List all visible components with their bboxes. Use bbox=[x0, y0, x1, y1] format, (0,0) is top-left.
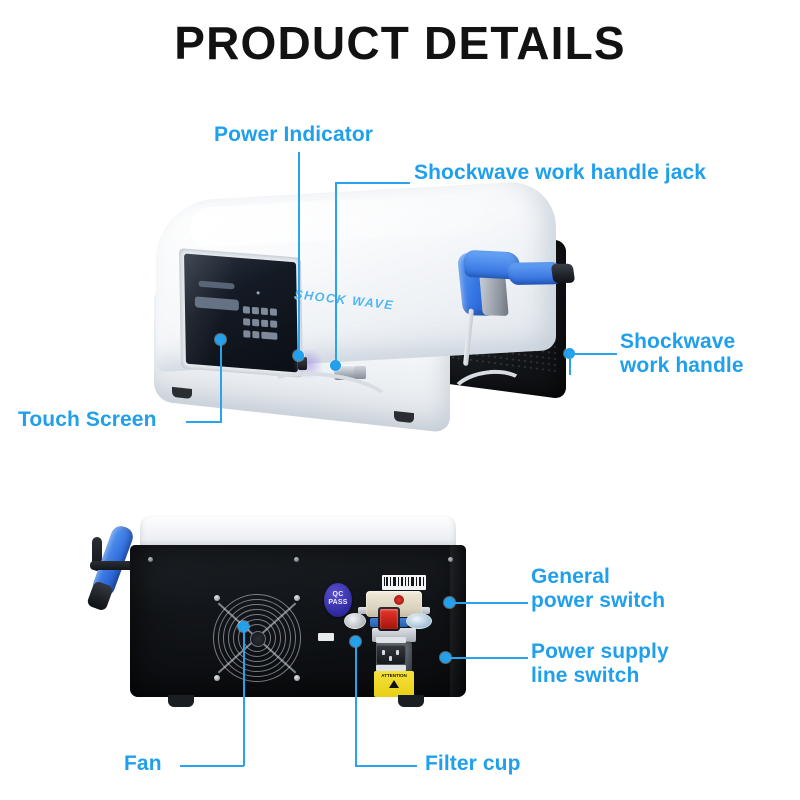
shockwave-handle-assembly bbox=[448, 246, 566, 356]
certification-sticker bbox=[344, 613, 366, 629]
fan-screw bbox=[214, 675, 220, 681]
screen-ui-key bbox=[252, 331, 259, 339]
screen-ui-key bbox=[252, 319, 259, 327]
general-power-switch-leader bbox=[450, 602, 528, 604]
rocker-button bbox=[380, 609, 398, 629]
filter-cup-leader-h bbox=[355, 765, 417, 767]
screen-ui-key bbox=[243, 330, 250, 338]
fan-screw bbox=[294, 675, 300, 681]
handle-cable-lower bbox=[447, 365, 541, 493]
screen-ui-key bbox=[270, 308, 277, 316]
callout-power-supply-line-switch: Power supply line switch bbox=[531, 640, 669, 687]
barcode-label bbox=[382, 575, 426, 590]
handle-jack-leader-v bbox=[335, 182, 337, 362]
power-indicator-leader bbox=[298, 152, 300, 352]
machine-rear-top-cover bbox=[140, 515, 456, 549]
general-power-switch[interactable] bbox=[378, 607, 400, 631]
work-handle-leader-h bbox=[569, 353, 617, 355]
hologram-sticker bbox=[406, 613, 432, 629]
machine-foot bbox=[394, 411, 414, 423]
model-plate bbox=[318, 633, 334, 641]
screen-glass bbox=[184, 254, 298, 373]
panel-screw bbox=[294, 557, 299, 562]
socket-top-label bbox=[376, 637, 406, 643]
touch-screen-leader-h bbox=[186, 421, 222, 423]
power-supply-line-switch-leader bbox=[446, 657, 528, 659]
qc-line-1: QC bbox=[324, 591, 352, 599]
fan-leader-v bbox=[243, 626, 245, 766]
applicator-tip bbox=[86, 580, 114, 611]
callout-shockwave-work-handle-jack: Shockwave work handle jack bbox=[414, 161, 706, 185]
screen-ui-key bbox=[261, 308, 268, 316]
warning-triangle-icon bbox=[389, 680, 399, 688]
port-collar bbox=[354, 366, 366, 379]
qc-line-2: PASS bbox=[324, 599, 352, 607]
filter-cup-leader-v bbox=[355, 641, 357, 766]
machine-foot bbox=[398, 695, 424, 707]
socket-pin bbox=[389, 656, 392, 661]
applicator-cap bbox=[551, 264, 575, 284]
handle-jack-leader-h bbox=[335, 182, 410, 184]
fan-screw bbox=[294, 595, 300, 601]
screen-ui-bar bbox=[199, 281, 235, 290]
machine-foot bbox=[168, 695, 194, 707]
fan-screw bbox=[214, 595, 220, 601]
callout-shockwave-work-handle: Shockwave work handle bbox=[620, 330, 744, 377]
infographic-canvas: PRODUCT DETAILS bbox=[0, 0, 800, 800]
touch-screen-leader-v bbox=[220, 339, 222, 423]
fan-grille bbox=[212, 593, 302, 683]
panel-screw bbox=[448, 557, 453, 562]
callout-power-indicator: Power Indicator bbox=[214, 123, 373, 147]
callout-general-power-switch: General power switch bbox=[531, 565, 665, 612]
attention-warning-label: ATTENTION bbox=[374, 671, 414, 697]
screen-ui-key bbox=[261, 320, 268, 328]
socket-pin bbox=[382, 650, 385, 655]
machine-rear-panel: QC PASS bbox=[130, 545, 466, 697]
callout-filter-cup: Filter cup bbox=[425, 752, 521, 776]
bottom-machine-photo: QC PASS bbox=[88, 515, 508, 730]
handle-barrel bbox=[479, 275, 508, 316]
machine-foot bbox=[172, 387, 192, 399]
screen-ui-key bbox=[270, 320, 277, 328]
attention-text: ATTENTION bbox=[381, 673, 406, 678]
fan-hub bbox=[250, 631, 266, 647]
touch-screen-display[interactable] bbox=[179, 248, 303, 378]
qc-pass-sticker: QC PASS bbox=[324, 583, 352, 617]
fan-leader-h bbox=[180, 765, 244, 767]
panel-screw bbox=[148, 557, 153, 562]
power-supply-line-switch[interactable] bbox=[376, 645, 406, 665]
socket-pin bbox=[396, 650, 399, 655]
work-handle-leader-v bbox=[569, 353, 571, 375]
page-title: PRODUCT DETAILS bbox=[0, 16, 800, 70]
screen-ui-key-wide bbox=[261, 332, 277, 340]
screen-ui-key bbox=[252, 307, 259, 315]
filter-pressure-knob[interactable] bbox=[394, 595, 404, 605]
screen-ui-indicator bbox=[257, 291, 260, 294]
screen-ui-panel bbox=[195, 296, 239, 310]
callout-fan: Fan bbox=[124, 752, 162, 776]
screen-ui-key bbox=[243, 318, 250, 326]
screen-ui-key bbox=[243, 306, 250, 314]
callout-touch-screen: Touch Screen bbox=[18, 408, 157, 432]
